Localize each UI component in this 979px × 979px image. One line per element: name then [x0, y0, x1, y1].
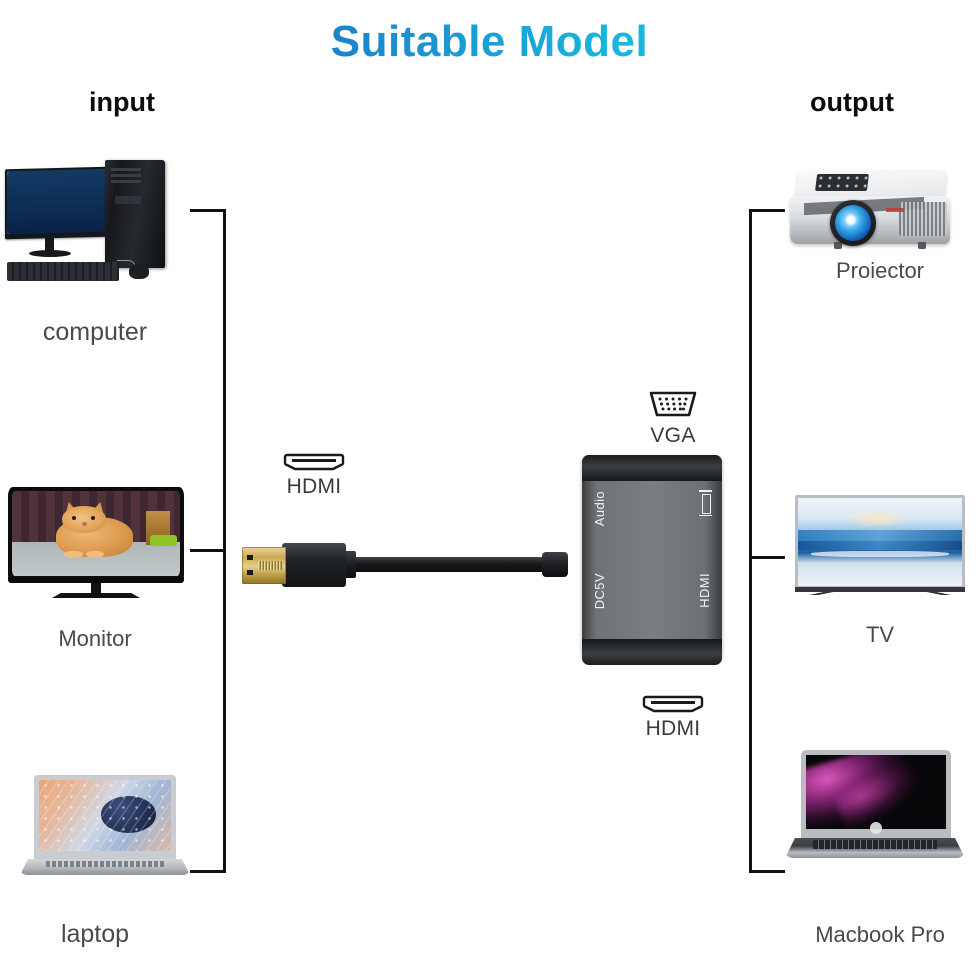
laptop-keyboard: [46, 861, 164, 867]
tv-wallpaper-reflection: [811, 551, 949, 557]
projector-accent-stripe: [886, 208, 904, 212]
monitor-bezel: [8, 487, 184, 583]
vga-port-icon-bottom-bar: [699, 515, 712, 517]
tv-caption: TV: [785, 622, 975, 648]
computer-tower: [105, 160, 165, 268]
macbook-lid: [801, 750, 951, 838]
tv-device: [795, 495, 965, 607]
hdmi-connector-shell: [282, 543, 346, 587]
adapter-power-label: DC5V: [592, 573, 607, 609]
computer-keyboard: [7, 262, 119, 281]
projector-lens-glass: [835, 205, 871, 241]
page-title: Suitable Model: [0, 17, 979, 67]
cat-eye-right: [91, 516, 95, 520]
hdmi-port-icon: [283, 452, 345, 472]
input-bracket-stub-bottom: [190, 870, 226, 873]
input-hdmi-label: HDMI: [277, 475, 351, 499]
projector-caption: Proiector: [785, 258, 975, 284]
output-vga-port-icon-group: VGA: [638, 389, 708, 448]
cat-photo-green-object: [150, 535, 177, 546]
cat-nose: [82, 522, 87, 526]
macbook-keyboard: [813, 840, 937, 849]
adapter-bottom-cap: [582, 639, 722, 665]
laptop-screen-wallpaper: [39, 780, 171, 851]
computer-screen-wallpaper: [7, 169, 107, 235]
adapter-vga-port-icon: [699, 489, 712, 517]
projector-lens-housing: [830, 200, 876, 246]
cable-sheath: [340, 557, 556, 572]
hdmi-male-cable: [236, 530, 586, 600]
input-bracket-stub-top: [190, 209, 226, 212]
output-vga-label: VGA: [638, 424, 708, 448]
output-column-header: output: [810, 87, 894, 118]
computer-device: [5, 160, 185, 305]
input-bracket-stub-middle: [190, 549, 226, 552]
tv-wallpaper-wave-2: [798, 541, 962, 550]
projector-control-panel: [815, 174, 869, 191]
tv-bezel: [795, 495, 965, 592]
monitor-device: [8, 487, 184, 609]
computer-monitor-base: [29, 250, 71, 257]
output-bracket-stub-top: [749, 209, 785, 212]
macbook-caption: Macbook Pro: [785, 922, 975, 948]
tv-bottom-bezel: [795, 587, 965, 592]
output-bracket-stub-bottom: [749, 870, 785, 873]
output-bracket-stub-middle: [749, 556, 785, 559]
suitable-model-diagram: Suitable Model input output computer: [0, 0, 979, 979]
input-hdmi-port-icon-group: HDMI: [277, 452, 351, 499]
projector-foot-right: [918, 242, 926, 249]
vga-port-icon-top-bar: [699, 490, 712, 492]
macbook-screen-wallpaper: [806, 755, 946, 829]
tv-screen-wallpaper: [798, 498, 962, 586]
output-hdmi-label: HDMI: [636, 717, 710, 741]
vga-port-icon: [645, 389, 701, 421]
cable-strain-relief: [542, 552, 568, 577]
projector-device: [790, 170, 955, 258]
monitor-caption: Monitor: [0, 626, 190, 652]
adapter-body: [582, 455, 722, 660]
laptop-device: [20, 775, 190, 887]
adapter-top-cap: [582, 455, 722, 481]
output-hdmi-port-icon-group: HDMI: [636, 694, 710, 741]
input-column-header: input: [89, 87, 155, 118]
vga-port-icon-rect: [702, 494, 711, 514]
laptop-wallpaper-particles: [39, 780, 171, 851]
hdmi-male-connector: [242, 547, 286, 584]
monitor-foot: [52, 593, 140, 598]
adapter-hdmi-label: HDMI: [697, 573, 712, 608]
computer-caption: computer: [0, 318, 190, 347]
tv-wallpaper-wave-1: [798, 530, 962, 541]
macbook-logo: [870, 822, 882, 834]
laptop-lid: [34, 775, 176, 859]
computer-mouse: [129, 264, 149, 279]
hdmi-port-icon: [642, 694, 704, 714]
projector-vent-grille: [899, 202, 947, 236]
hdmi-connector-pins: [258, 561, 282, 570]
tv-wallpaper-glow: [844, 509, 910, 528]
output-bracket-vertical: [749, 209, 752, 873]
computer-monitor: [5, 167, 109, 240]
monitor-screen-cat-photo: [12, 491, 180, 576]
input-bracket-vertical: [223, 209, 226, 873]
laptop-caption: laptop: [0, 920, 190, 949]
cat-paw-left: [64, 551, 82, 559]
hdmi-to-vga-hdmi-adapter: Audio DC5V HDMI: [578, 455, 726, 665]
adapter-audio-label: Audio: [592, 491, 607, 526]
macbook-device: [785, 750, 965, 872]
